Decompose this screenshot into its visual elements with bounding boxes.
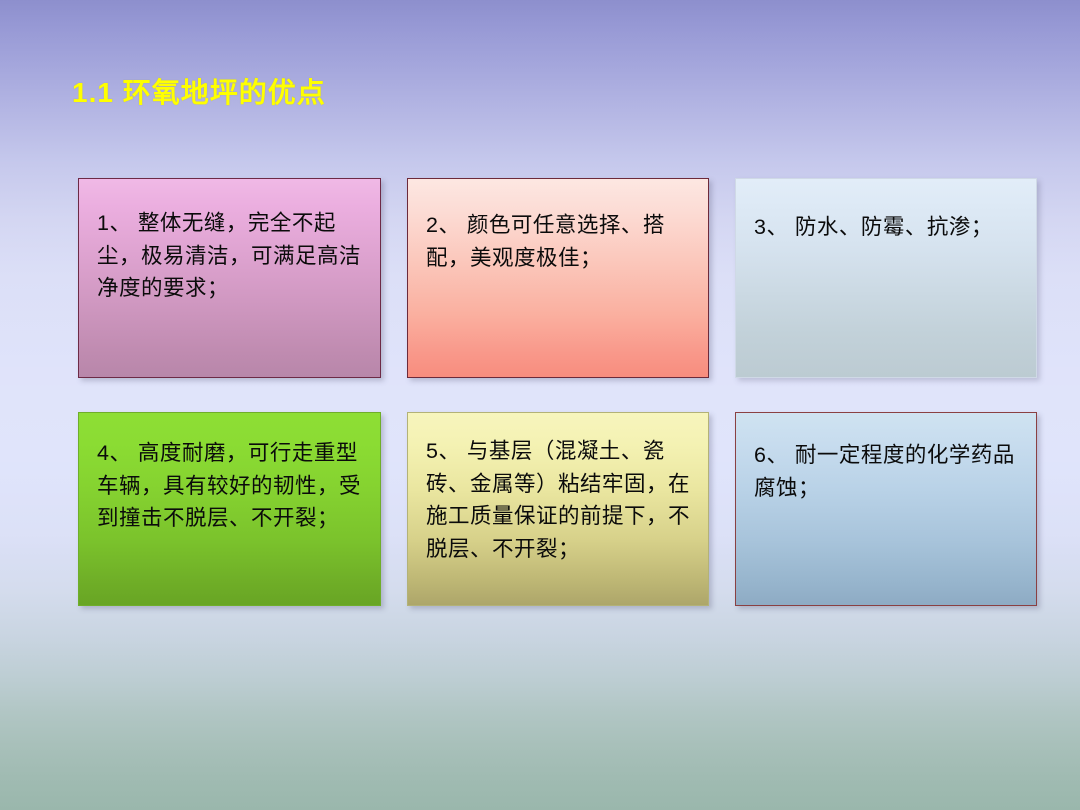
advantage-card-4-text: 4、 高度耐磨，可行走重型车辆，具有较好的韧性，受到撞击不脱层、不开裂； (97, 437, 362, 535)
advantage-card-5-text: 5、 与基层（混凝土、瓷砖、金属等）粘结牢固，在施工质量保证的前提下，不脱层、不… (426, 435, 690, 566)
advantage-card-3-text: 3、 防水、防霉、抗渗； (754, 211, 1018, 244)
advantage-card-6[interactable]: 6、 耐一定程度的化学药品腐蚀； (735, 412, 1037, 606)
advantage-card-1-text: 1、 整体无缝，完全不起尘，极易清洁，可满足高洁净度的要求； (97, 207, 362, 305)
advantage-card-3[interactable]: 3、 防水、防霉、抗渗； (735, 178, 1037, 378)
presentation-slide: 1.1 环氧地坪的优点 1、 整体无缝，完全不起尘，极易清洁，可满足高洁净度的要… (0, 0, 1080, 810)
advantage-card-4[interactable]: 4、 高度耐磨，可行走重型车辆，具有较好的韧性，受到撞击不脱层、不开裂； (78, 412, 381, 606)
advantage-card-5[interactable]: 5、 与基层（混凝土、瓷砖、金属等）粘结牢固，在施工质量保证的前提下，不脱层、不… (407, 412, 709, 606)
advantage-card-2[interactable]: 2、 颜色可任意选择、搭配，美观度极佳； (407, 178, 709, 378)
advantage-card-2-text: 2、 颜色可任意选择、搭配，美观度极佳； (426, 209, 690, 274)
page-title: 1.1 环氧地坪的优点 (72, 71, 326, 111)
advantage-card-6-text: 6、 耐一定程度的化学药品腐蚀； (754, 439, 1018, 504)
advantage-card-1[interactable]: 1、 整体无缝，完全不起尘，极易清洁，可满足高洁净度的要求； (78, 178, 381, 378)
